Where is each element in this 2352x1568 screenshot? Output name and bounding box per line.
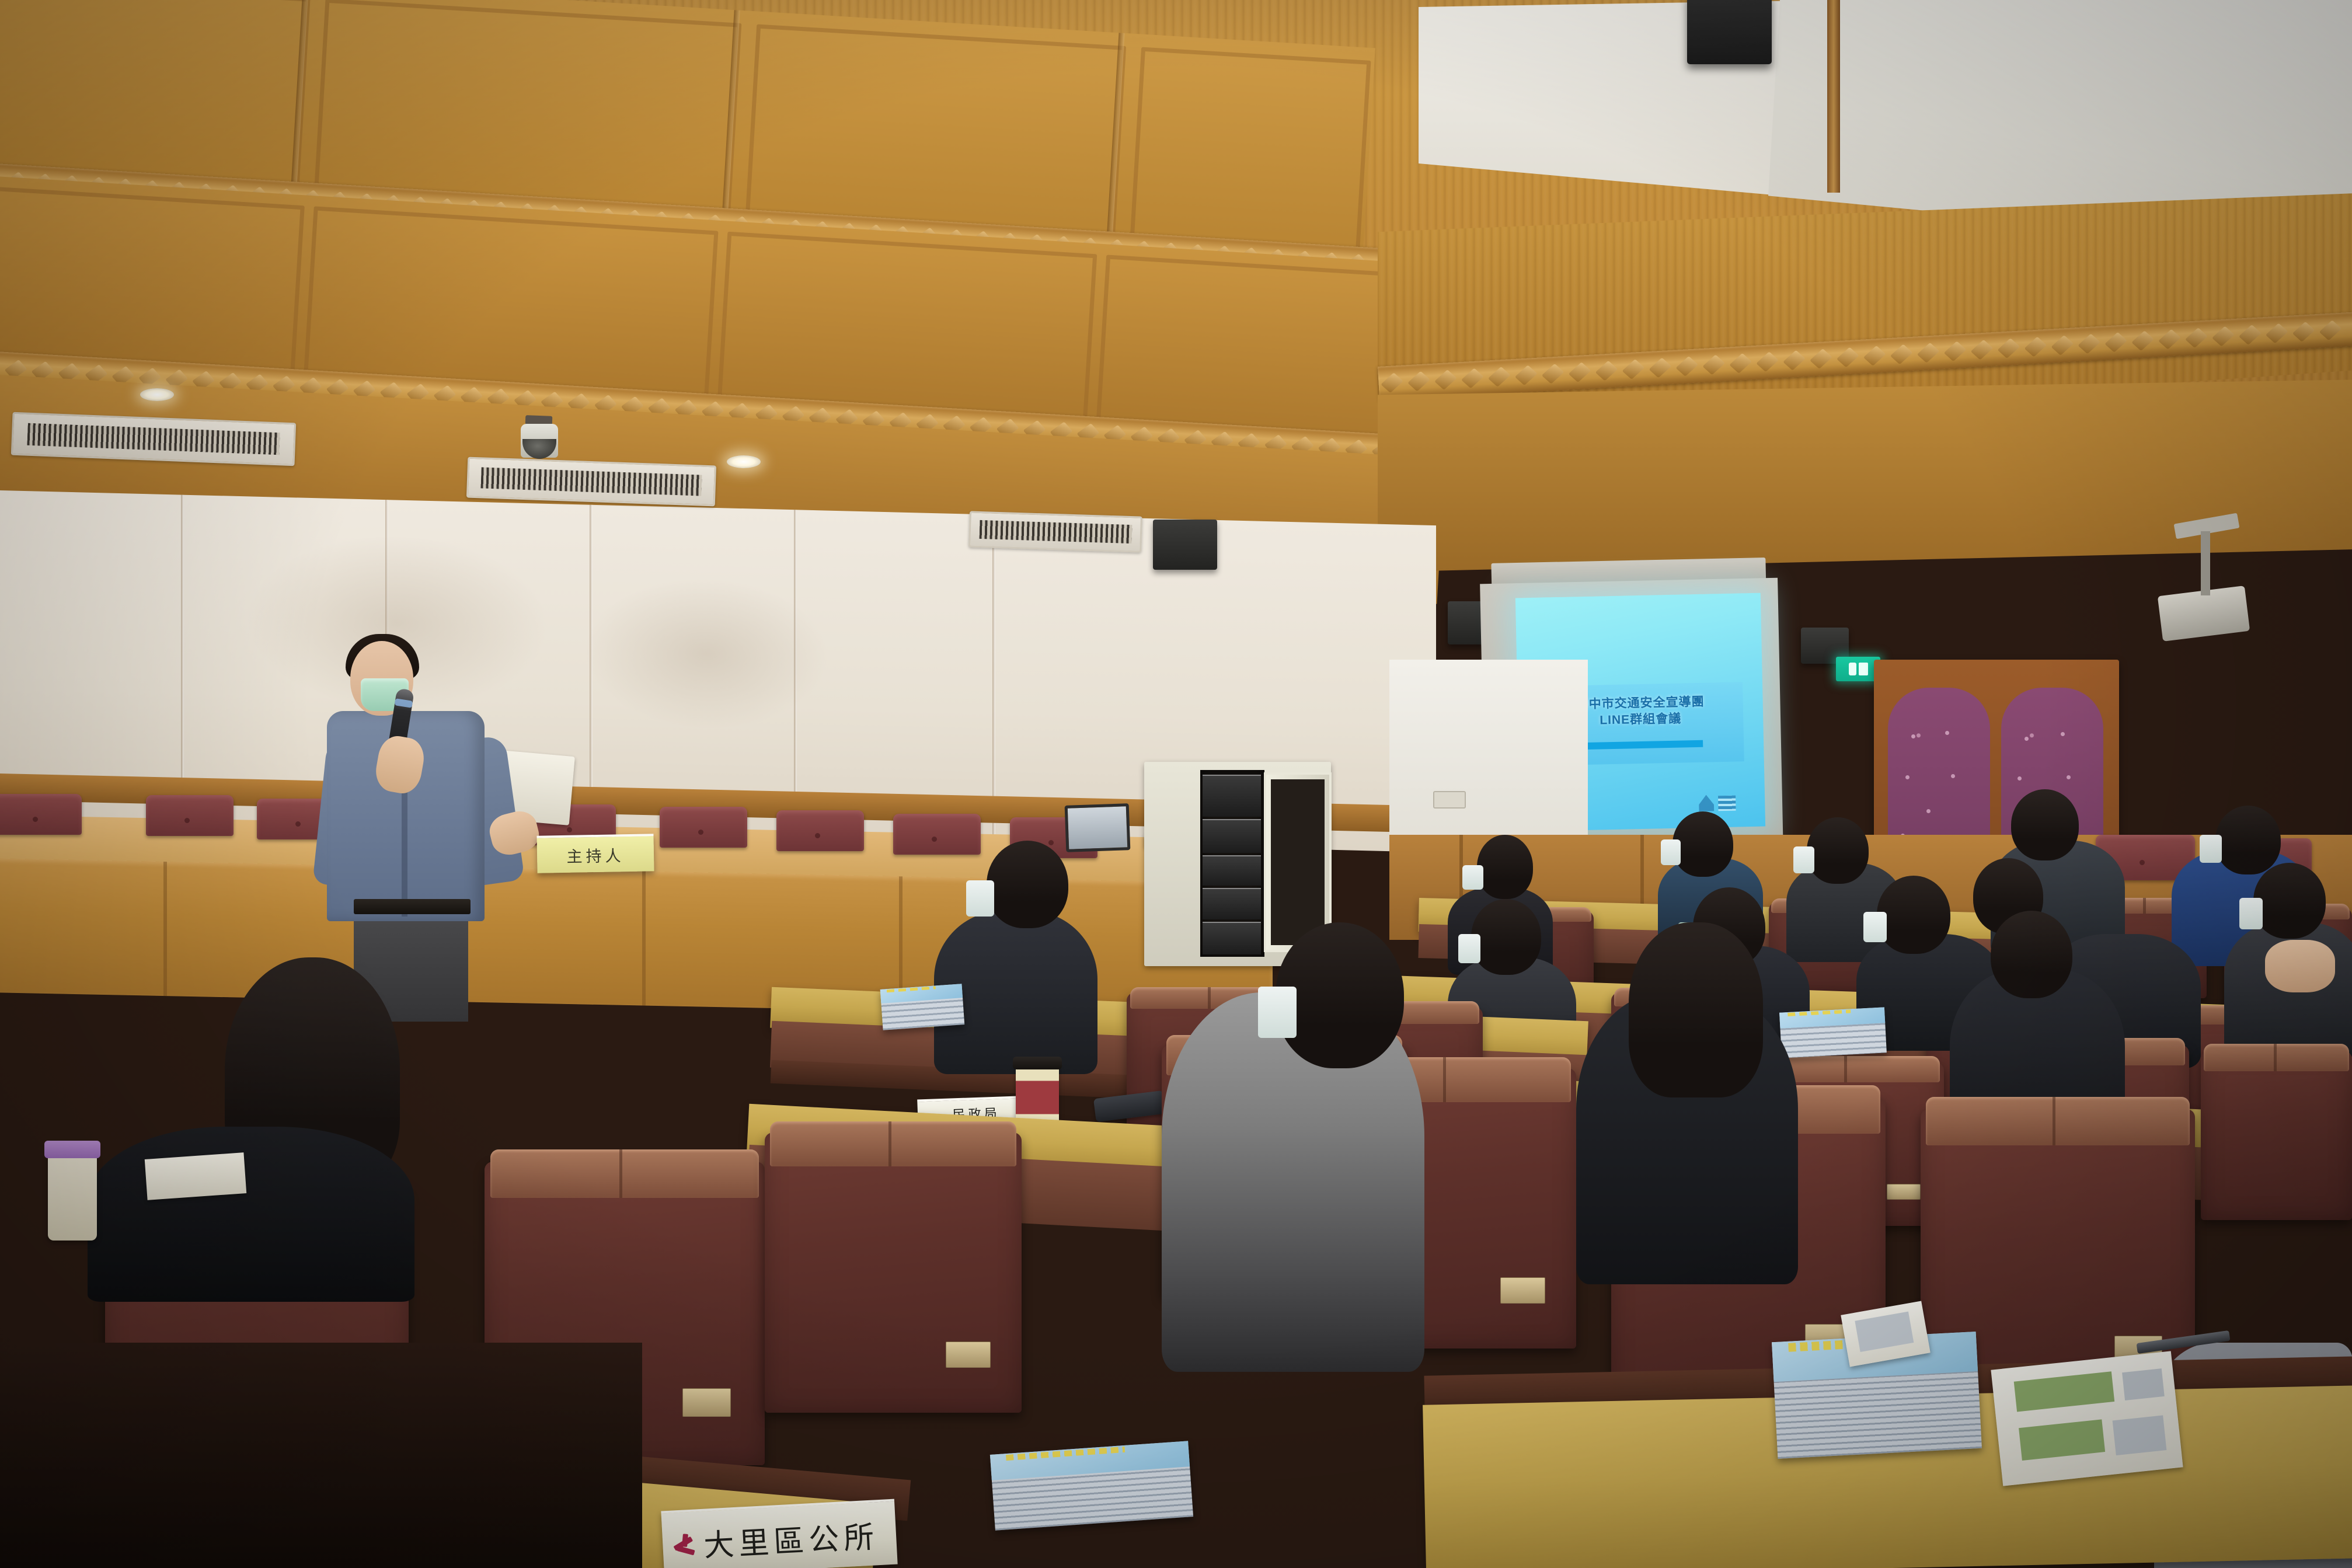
carved-diamond-icon <box>1998 338 2020 358</box>
carved-diamond-icon <box>2104 332 2127 353</box>
carved-diamond-icon <box>2266 323 2288 343</box>
carved-diamond-icon <box>1944 341 1967 361</box>
attendee-face-mask <box>1462 865 1483 890</box>
carved-diamond-icon <box>1837 347 1859 368</box>
carved-diamond-icon <box>1890 344 1913 364</box>
booklet-stack-row4 <box>1779 1007 1887 1058</box>
dais-chair[interactable] <box>146 795 234 836</box>
carved-diamond-icon <box>1542 364 1564 384</box>
drink-cup-purple <box>48 1153 97 1241</box>
flyer-bottom-right <box>1991 1351 2183 1486</box>
security-camera-icon <box>521 424 558 458</box>
carved-diamond-icon <box>2185 327 2208 348</box>
wall-speaker-center <box>1153 520 1217 570</box>
floor-shadow <box>0 1343 642 1568</box>
carved-diamond-icon <box>1434 370 1457 390</box>
attendee-body-foreground-left <box>88 1127 414 1302</box>
projector-stand <box>2201 531 2210 595</box>
wall-outlet-icon <box>1433 791 1466 809</box>
attendee-hand <box>2265 940 2335 992</box>
slide-logo-group <box>1699 795 1736 811</box>
attendee-face-mask <box>1793 846 1814 873</box>
carved-diamond-icon <box>1917 343 1940 363</box>
carved-diamond-icon <box>1729 353 1752 374</box>
camera-lens-icon <box>522 439 556 459</box>
carved-diamond-icon <box>1515 365 1538 385</box>
attendee-face-mask <box>1458 934 1480 963</box>
attendee-head <box>1477 835 1533 899</box>
attendee-head-foreground-right <box>1629 922 1763 1097</box>
chair-foreground[interactable] <box>765 1133 1022 1413</box>
booklet-cover <box>990 1441 1190 1480</box>
ceiling-speaker-icon <box>1687 0 1772 64</box>
attendee-face-mask <box>966 880 994 917</box>
hvac-vent-right <box>968 511 1142 552</box>
av-rack-interior <box>1200 770 1264 957</box>
dais-chair[interactable] <box>0 794 82 835</box>
cup-lid-purple <box>44 1141 100 1158</box>
attendee-face-mask <box>2200 835 2222 863</box>
ceiling-downlight-left <box>140 388 174 401</box>
carved-diamond-icon <box>1675 356 1698 377</box>
carved-diamond-icon <box>1810 349 1832 369</box>
council-chamber-photo: 臺中市交通安全宣導團 LINE群組會議 <box>0 0 2352 1568</box>
attendee-head <box>1877 876 1950 954</box>
carved-diamond-icon <box>1381 372 1403 393</box>
carved-diamond-icon <box>1407 371 1430 392</box>
attendee-head <box>1991 911 2072 998</box>
exit-door-icon <box>1859 663 1868 675</box>
exit-running-man-icon <box>1849 663 1856 675</box>
attendee-head <box>1807 817 1869 884</box>
attendee-head <box>2253 863 2326 939</box>
attendee-face-mask <box>1661 839 1681 865</box>
carved-diamond-icon <box>1783 350 1806 371</box>
cup-lid <box>1013 1057 1062 1069</box>
hvac-vent-center <box>466 457 716 507</box>
booklet-stack-row3 <box>880 984 965 1030</box>
carved-diamond-icon <box>1756 351 1779 372</box>
podium-nameplate: 主持人 <box>536 834 654 873</box>
attendee-head <box>1672 811 1733 877</box>
dais-chair[interactable] <box>660 807 747 848</box>
attendee-face-mask-foreground <box>1258 987 1297 1038</box>
carved-diamond-icon <box>1649 358 1671 378</box>
booklet-stack-bottom-center <box>990 1441 1193 1530</box>
attendee-head <box>2215 806 2281 874</box>
chair-row4[interactable] <box>2201 1051 2352 1220</box>
carved-diamond-icon <box>2239 325 2262 345</box>
dais-chair[interactable] <box>893 814 981 855</box>
carved-diamond-icon <box>1569 362 1591 382</box>
government-emblem-icon <box>1699 795 1715 811</box>
carved-diamond-icon <box>1863 346 1886 366</box>
carved-diamond-icon <box>1702 354 1725 375</box>
carved-diamond-icon <box>2051 335 2074 356</box>
desk-nameplate-front: 大里區公所 <box>661 1499 897 1568</box>
attendee-head <box>1471 899 1541 975</box>
ceiling-downlight-center <box>727 455 761 468</box>
attendee-head <box>987 841 1068 928</box>
carved-diamond-icon <box>2158 329 2181 350</box>
carved-diamond-icon <box>1622 359 1645 379</box>
district-office-logo-icon <box>670 1531 702 1563</box>
carved-diamond-icon <box>2024 337 2047 357</box>
carved-diamond-icon <box>2292 322 2315 342</box>
papers-left-desk <box>145 1152 246 1200</box>
wall-mullion <box>1827 0 1840 193</box>
carved-diamond-icon <box>2319 320 2342 340</box>
presenter-belt <box>354 899 471 914</box>
carved-diamond-icon <box>2212 326 2235 347</box>
white-wall-right <box>1389 660 1588 852</box>
attendee-face-mask <box>2239 898 2263 929</box>
attendee-face-mask <box>1863 912 1887 942</box>
attendee-head <box>2011 789 2079 860</box>
carved-diamond-icon <box>2131 330 2154 351</box>
carved-diamond-icon <box>1488 367 1511 387</box>
carved-diamond-icon <box>2078 333 2100 354</box>
carved-diamond-icon <box>1461 368 1484 389</box>
dais-chair[interactable] <box>776 810 864 851</box>
laptop-icon[interactable] <box>1065 803 1131 852</box>
carved-diamond-icon <box>1971 340 1994 360</box>
department-logo-icon <box>1718 796 1736 811</box>
desk-nameplate-front-label: 大里區公所 <box>702 1512 880 1565</box>
carved-diamond-icon <box>1595 361 1618 381</box>
